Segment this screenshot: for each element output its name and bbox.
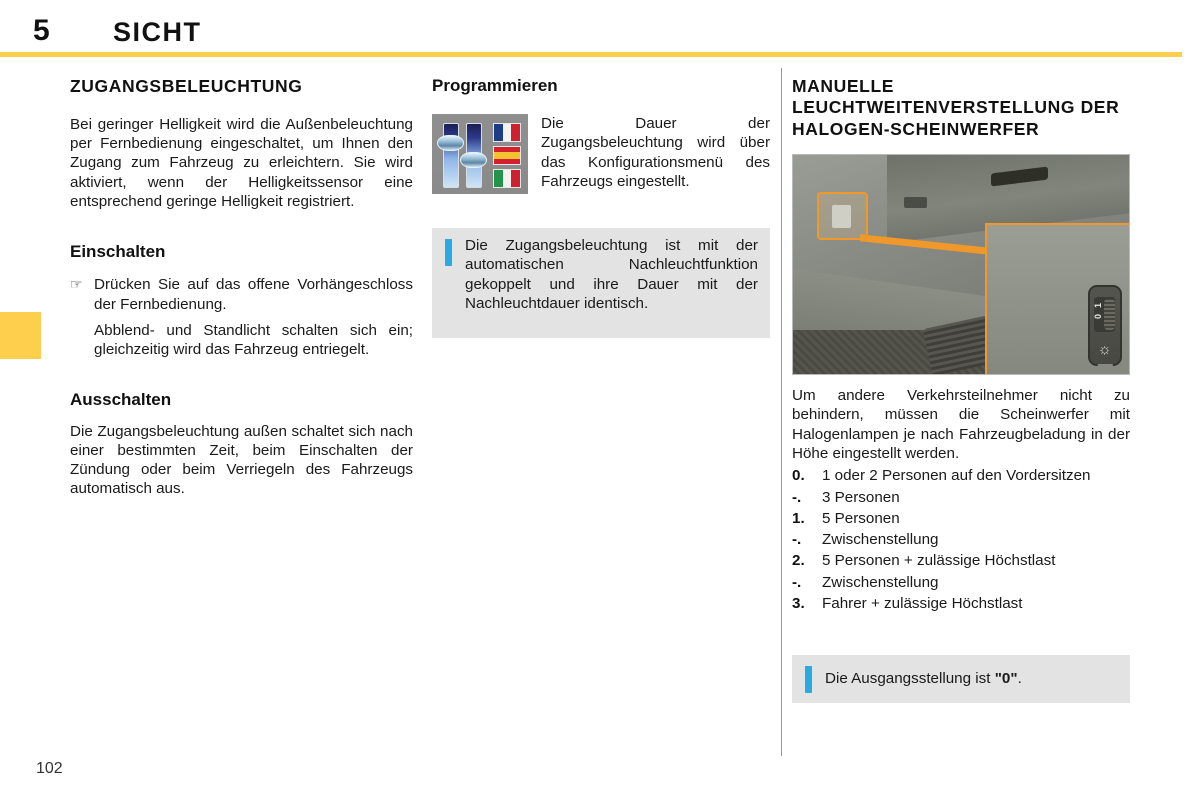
- position-label: 5 Personen + zulässige Höchstlast: [822, 551, 1130, 570]
- position-label: Fahrer + zulässige Höchstlast: [822, 594, 1130, 613]
- position-key: 2.: [792, 551, 822, 570]
- info-box-text: Die Zugangsbeleuchtung ist mit der autom…: [465, 236, 758, 313]
- position-label: Zwischenstellung: [822, 530, 1130, 549]
- slider-knob-icon: [460, 152, 487, 168]
- einschalten-follow-text: Abblend- und Standlicht schalten sich ei…: [94, 321, 413, 360]
- position-label: Zwischenstellung: [822, 573, 1130, 592]
- leuchtweiten-intro-paragraph: Um andere Verkehrsteilnehmer nicht zu be…: [792, 386, 1130, 463]
- list-item: 3. Fahrer + zulässige Höchstlast: [792, 594, 1130, 613]
- section-heading-zugangsbeleuchtung: ZUGANGSBELEUCHTUNG: [70, 76, 413, 98]
- switch-window: 1 0: [1094, 297, 1116, 333]
- pointing-hand-icon: ☞: [70, 275, 94, 294]
- position-label: 1 oder 2 Personen auf den Vordersitzen: [822, 466, 1130, 485]
- headlight-adjuster-switch: 1 0 ☼—: [1088, 285, 1122, 367]
- france-flag-icon: [493, 123, 521, 142]
- slider-knob-icon: [437, 135, 464, 151]
- position-key: -.: [792, 530, 822, 549]
- info-box-nachleuchtfunktion: Die Zugangsbeleuchtung ist mit der autom…: [432, 228, 770, 338]
- bullet-text: Drücken Sie auf das offene Vorhängeschlo…: [94, 275, 413, 314]
- middle-column: Programmieren Die Dauer der Zugangsbeleu…: [432, 76, 770, 194]
- section-heading-leuchtweitenverstellung: MANUELLE LEUCHTWEITENVERSTELLUNG DER HAL…: [792, 76, 1130, 140]
- info-text-bold: "0": [995, 670, 1018, 687]
- slider-bar-icon: [443, 123, 459, 188]
- position-key: 3.: [792, 594, 822, 613]
- position-list: 0. 1 oder 2 Personen auf den Vordersitze…: [792, 466, 1130, 613]
- list-item: 1. 5 Personen: [792, 509, 1130, 528]
- config-menu-sliders-flags-icon: [432, 114, 528, 194]
- subheading-ausschalten: Ausschalten: [70, 390, 413, 410]
- chapter-number: 5: [33, 14, 50, 48]
- page-header: 5 SICHT: [0, 0, 1200, 57]
- left-column: ZUGANGSBELEUCHTUNG Bei geringer Helligke…: [70, 76, 413, 499]
- header-accent-rule: [0, 52, 1182, 57]
- info-i-icon: [445, 238, 452, 266]
- info-text-after: .: [1018, 670, 1022, 687]
- right-column: MANUELLE LEUCHTWEITENVERSTELLUNG DER HAL…: [792, 76, 1130, 615]
- column-divider: [781, 68, 782, 756]
- dashboard-headlight-adjuster-photo: 1 0 ☼—: [792, 154, 1130, 375]
- wheel-digit-0: 0: [1094, 314, 1103, 319]
- zoom-callout-panel: 1 0 ☼—: [985, 223, 1129, 374]
- subheading-einschalten: Einschalten: [70, 242, 413, 262]
- list-item: 0. 1 oder 2 Personen auf den Vordersitze…: [792, 466, 1130, 485]
- position-key: -.: [792, 573, 822, 592]
- list-item: -. Zwischenstellung: [792, 573, 1130, 592]
- position-label: 3 Personen: [822, 488, 1130, 507]
- position-key: 1.: [792, 509, 822, 528]
- list-item: -. 3 Personen: [792, 488, 1130, 507]
- chapter-title: SICHT: [113, 17, 202, 48]
- thumbwheel[interactable]: [1104, 299, 1115, 330]
- programmieren-text: Die Dauer der Zugangsbeleuchtung wird üb…: [541, 114, 770, 191]
- info-box-ausgangsstellung: Die Ausgangsstellung ist "0".: [792, 655, 1130, 703]
- subheading-programmieren: Programmieren: [432, 76, 770, 96]
- position-key: 0.: [792, 466, 822, 485]
- spain-flag-icon: [493, 146, 521, 165]
- chapter-edge-tab: [0, 312, 41, 359]
- position-key: -.: [792, 488, 822, 507]
- list-item: -. Zwischenstellung: [792, 530, 1130, 549]
- info-text-before: Die Ausgangsstellung ist: [825, 670, 995, 687]
- wheel-digit-1: 1: [1094, 303, 1103, 308]
- headlight-beam-symbol-icon: ☼—: [1098, 342, 1112, 359]
- list-item: 2. 5 Personen + zulässige Höchstlast: [792, 551, 1130, 570]
- page-number: 102: [36, 760, 63, 778]
- adjuster-knob-small: [832, 205, 852, 228]
- ausschalten-paragraph: Die Zugangsbeleuchtung außen schaltet si…: [70, 422, 413, 499]
- italy-flag-icon: [493, 169, 521, 188]
- wheel-digit-labels: 1 0: [1096, 299, 1101, 323]
- callout-leader-line: [860, 229, 994, 255]
- position-label: 5 Personen: [822, 509, 1130, 528]
- bullet-item-einschalten: ☞ Drücken Sie auf das offene Vorhängesch…: [70, 275, 413, 314]
- dashboard-slot: [904, 197, 928, 208]
- programmieren-block: Die Dauer der Zugangsbeleuchtung wird üb…: [432, 114, 770, 194]
- info-i-icon: [805, 665, 812, 693]
- info-box-text: Die Ausgangsstellung ist "0".: [825, 669, 1118, 688]
- intro-paragraph: Bei geringer Helligkeit wird die Außenbe…: [70, 115, 413, 211]
